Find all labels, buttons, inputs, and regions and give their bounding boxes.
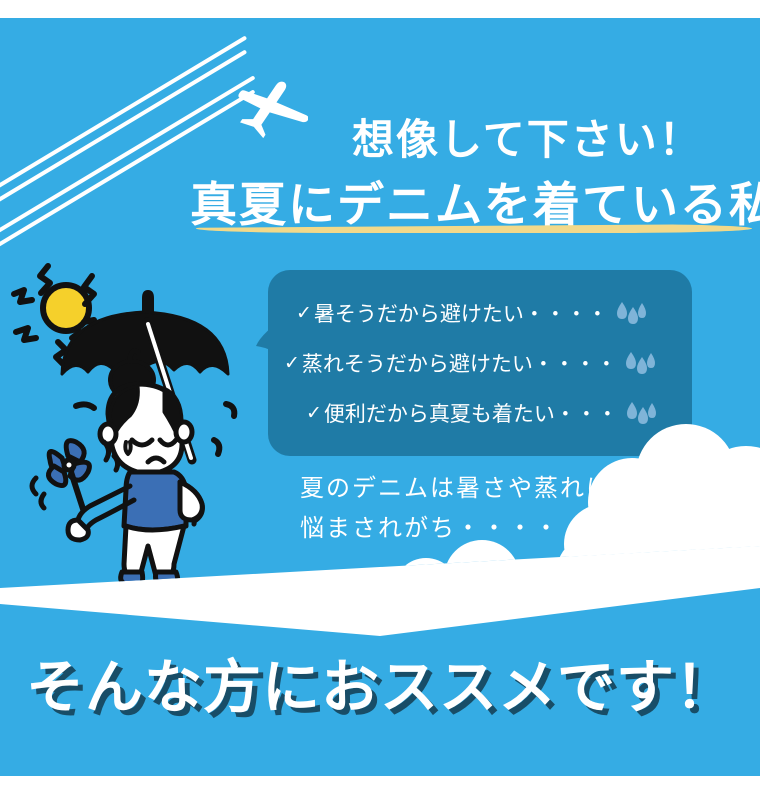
checkmark-icon: ✓ — [284, 352, 300, 374]
cloud-shape-bottom — [390, 538, 690, 588]
promo-graphic: 想像して下さい！ 真夏にデニムを着ている私 — [0, 0, 760, 806]
banner-headline: そんな方におススメです！ — [0, 640, 760, 724]
list-item: ✓ 暑そうだから避けたい・・・・ — [268, 288, 692, 338]
headline-line-1: 想像して下さい！ — [352, 106, 703, 167]
sweat-drops-icon — [622, 350, 656, 376]
sweat-drops-icon — [613, 300, 647, 326]
list-item: ✓ 蒸れそうだから避けたい・・・・ — [268, 338, 692, 388]
upper-panel: 想像して下さい！ 真夏にデニムを着ている私 — [0, 18, 760, 588]
woman-with-umbrella-illustration — [14, 264, 274, 584]
airplane-icon — [236, 76, 308, 142]
checkmark-icon: ✓ — [306, 402, 322, 424]
list-item-label: 蒸れそうだから避けたい・・・・ — [302, 348, 617, 378]
cloud-shape-right — [560, 416, 760, 588]
checkmark-icon: ✓ — [296, 302, 312, 324]
list-item-label: 暑そうだから避けたい・・・・ — [314, 298, 608, 328]
